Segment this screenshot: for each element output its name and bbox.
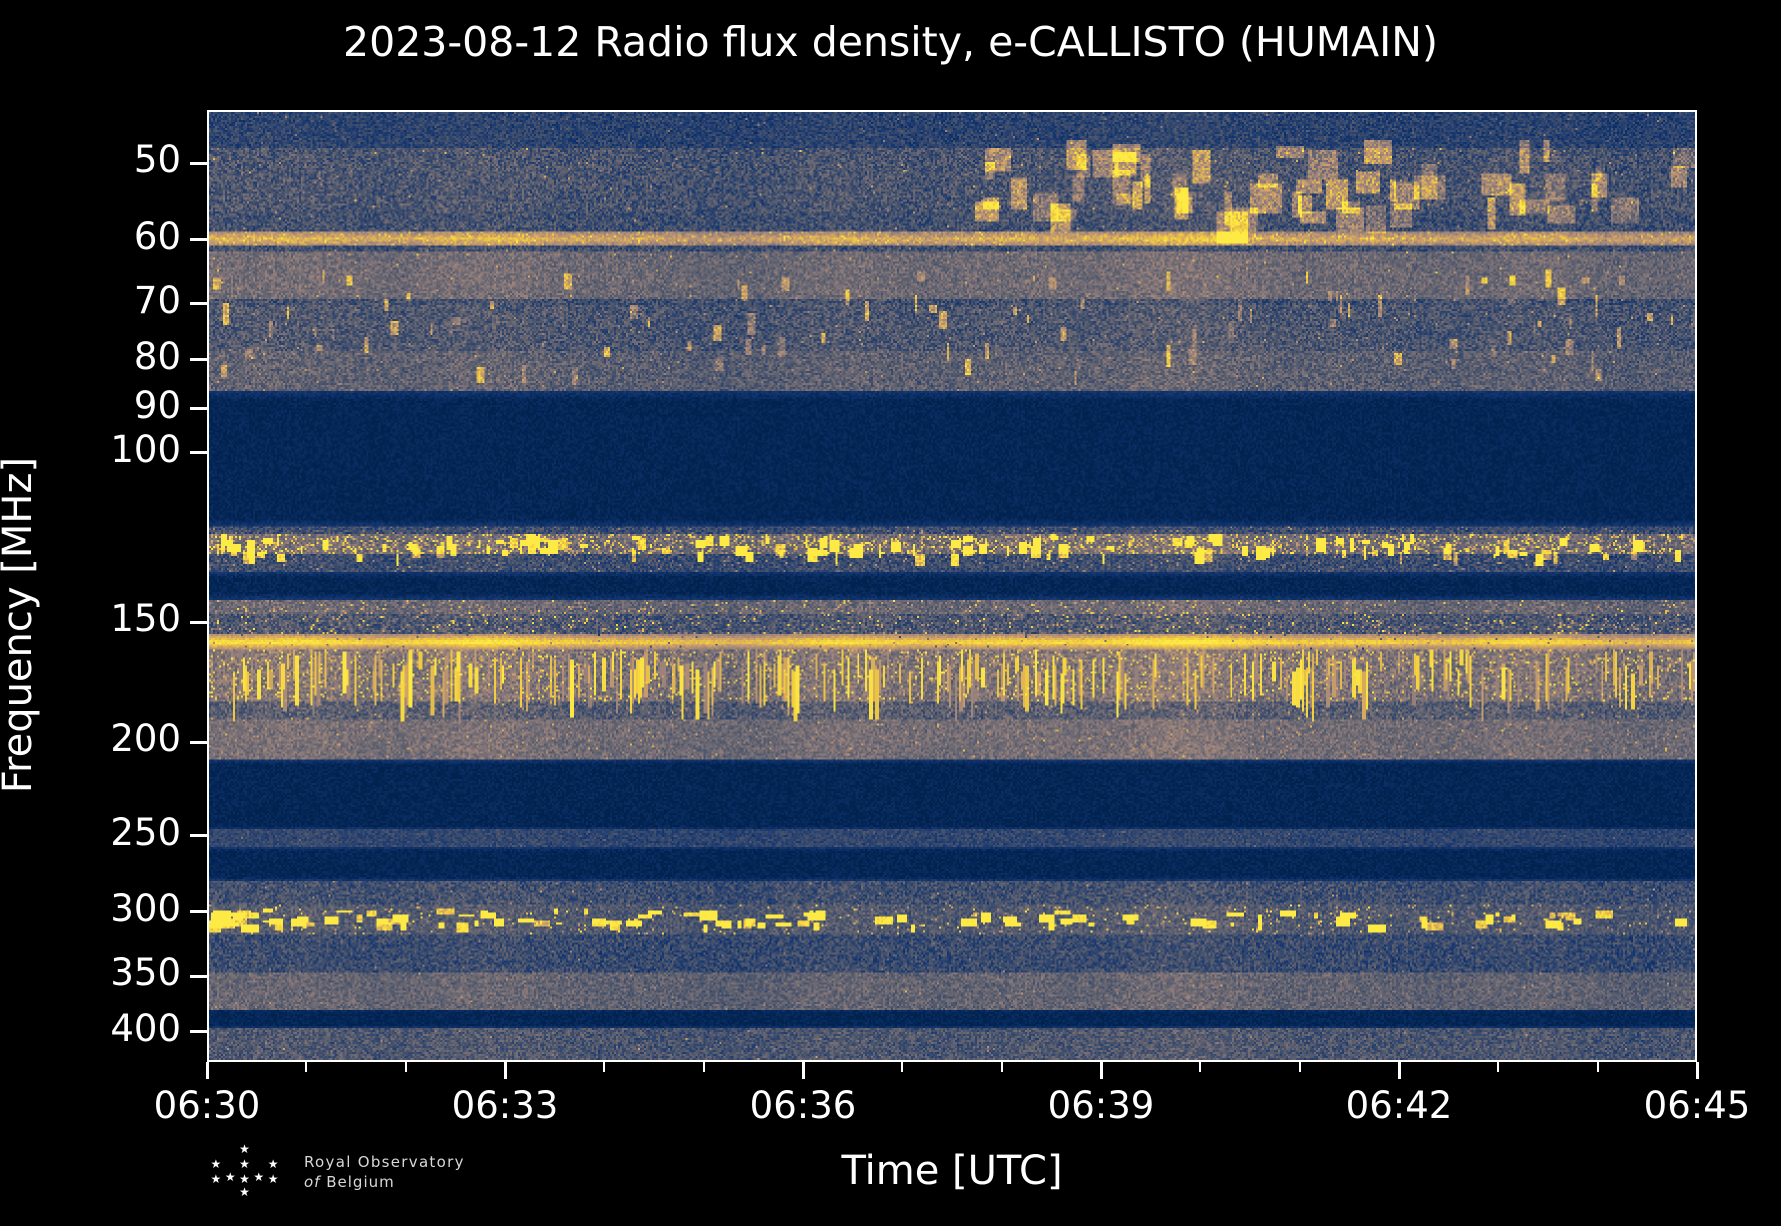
y-tick-label-300: 300 <box>0 887 181 930</box>
logo-star-row-3: ★ ★ ★ ★ <box>200 1173 296 1199</box>
spectrogram-figure: 2023-08-12 Radio flux density, e-CALLIST… <box>0 0 1781 1226</box>
x-tick-mark-13 <box>1497 1062 1499 1072</box>
x-tick-mark-0 <box>206 1062 209 1079</box>
y-tick-mark-80 <box>190 358 207 361</box>
y-tick-label-60: 60 <box>0 215 181 258</box>
x-tick-mark-6 <box>802 1062 805 1079</box>
x-tick-mark-15 <box>1696 1062 1699 1079</box>
x-tick-mark-4 <box>603 1062 605 1072</box>
x-tick-mark-8 <box>1001 1062 1003 1072</box>
x-tick-mark-11 <box>1299 1062 1301 1072</box>
logo-line-of-belgium: of Belgium <box>304 1172 504 1192</box>
y-tick-mark-90 <box>190 407 207 410</box>
y-tick-label-350: 350 <box>0 951 181 994</box>
page-title: 2023-08-12 Radio flux density, e-CALLIST… <box>0 18 1781 66</box>
y-tick-mark-400 <box>190 1030 207 1033</box>
x-tick-label-06-36: 06:36 <box>673 1084 933 1127</box>
x-tick-mark-12 <box>1398 1062 1401 1079</box>
x-tick-mark-2 <box>405 1062 407 1072</box>
logo-line-royal-observatory: Royal Observatory <box>304 1152 504 1172</box>
y-tick-mark-150 <box>190 621 207 624</box>
x-tick-mark-1 <box>305 1062 307 1072</box>
y-tick-mark-100 <box>190 451 207 454</box>
x-tick-label-06-45: 06:45 <box>1567 1084 1781 1127</box>
x-tick-label-06-30: 06:30 <box>77 1084 337 1127</box>
y-tick-mark-200 <box>190 741 207 744</box>
logo-text: Royal Observatory of Belgium <box>304 1152 504 1192</box>
y-tick-mark-300 <box>190 910 207 913</box>
y-tick-label-150: 150 <box>0 597 181 640</box>
logo-of-word: of <box>304 1173 320 1191</box>
y-tick-label-400: 400 <box>0 1007 181 1050</box>
logo-stars-icon: ★ ★ ★ ★ ★ ★ ★ ★ ★ ★ <box>200 1143 296 1201</box>
x-tick-label-06-42: 06:42 <box>1269 1084 1529 1127</box>
x-tick-label-06-33: 06:33 <box>375 1084 635 1127</box>
y-tick-label-200: 200 <box>0 717 181 760</box>
y-tick-label-70: 70 <box>0 279 181 322</box>
x-tick-mark-14 <box>1597 1062 1599 1072</box>
x-tick-mark-7 <box>901 1062 903 1072</box>
y-tick-mark-70 <box>190 302 207 305</box>
plot-area <box>207 110 1697 1062</box>
y-tick-mark-350 <box>190 975 207 978</box>
y-tick-mark-250 <box>190 834 207 837</box>
y-tick-mark-60 <box>190 238 207 241</box>
y-tick-label-50: 50 <box>0 138 181 181</box>
x-tick-mark-5 <box>703 1062 705 1072</box>
y-tick-label-250: 250 <box>0 811 181 854</box>
y-tick-label-100: 100 <box>0 428 181 471</box>
logo-belgium-word: Belgium <box>326 1173 395 1191</box>
x-tick-mark-9 <box>1100 1062 1103 1079</box>
royal-observatory-logo: ★ ★ ★ ★ ★ ★ ★ ★ ★ ★ Royal Observatory of… <box>200 1143 500 1213</box>
x-tick-label-06-39: 06:39 <box>971 1084 1231 1127</box>
y-tick-label-90: 90 <box>0 384 181 427</box>
y-tick-label-80: 80 <box>0 335 181 378</box>
logo-star-row-1: ★ <box>200 1143 296 1156</box>
x-tick-mark-3 <box>504 1062 507 1079</box>
x-tick-mark-10 <box>1199 1062 1201 1072</box>
spectrogram-heatmap <box>209 112 1695 1060</box>
y-tick-mark-50 <box>190 162 207 165</box>
